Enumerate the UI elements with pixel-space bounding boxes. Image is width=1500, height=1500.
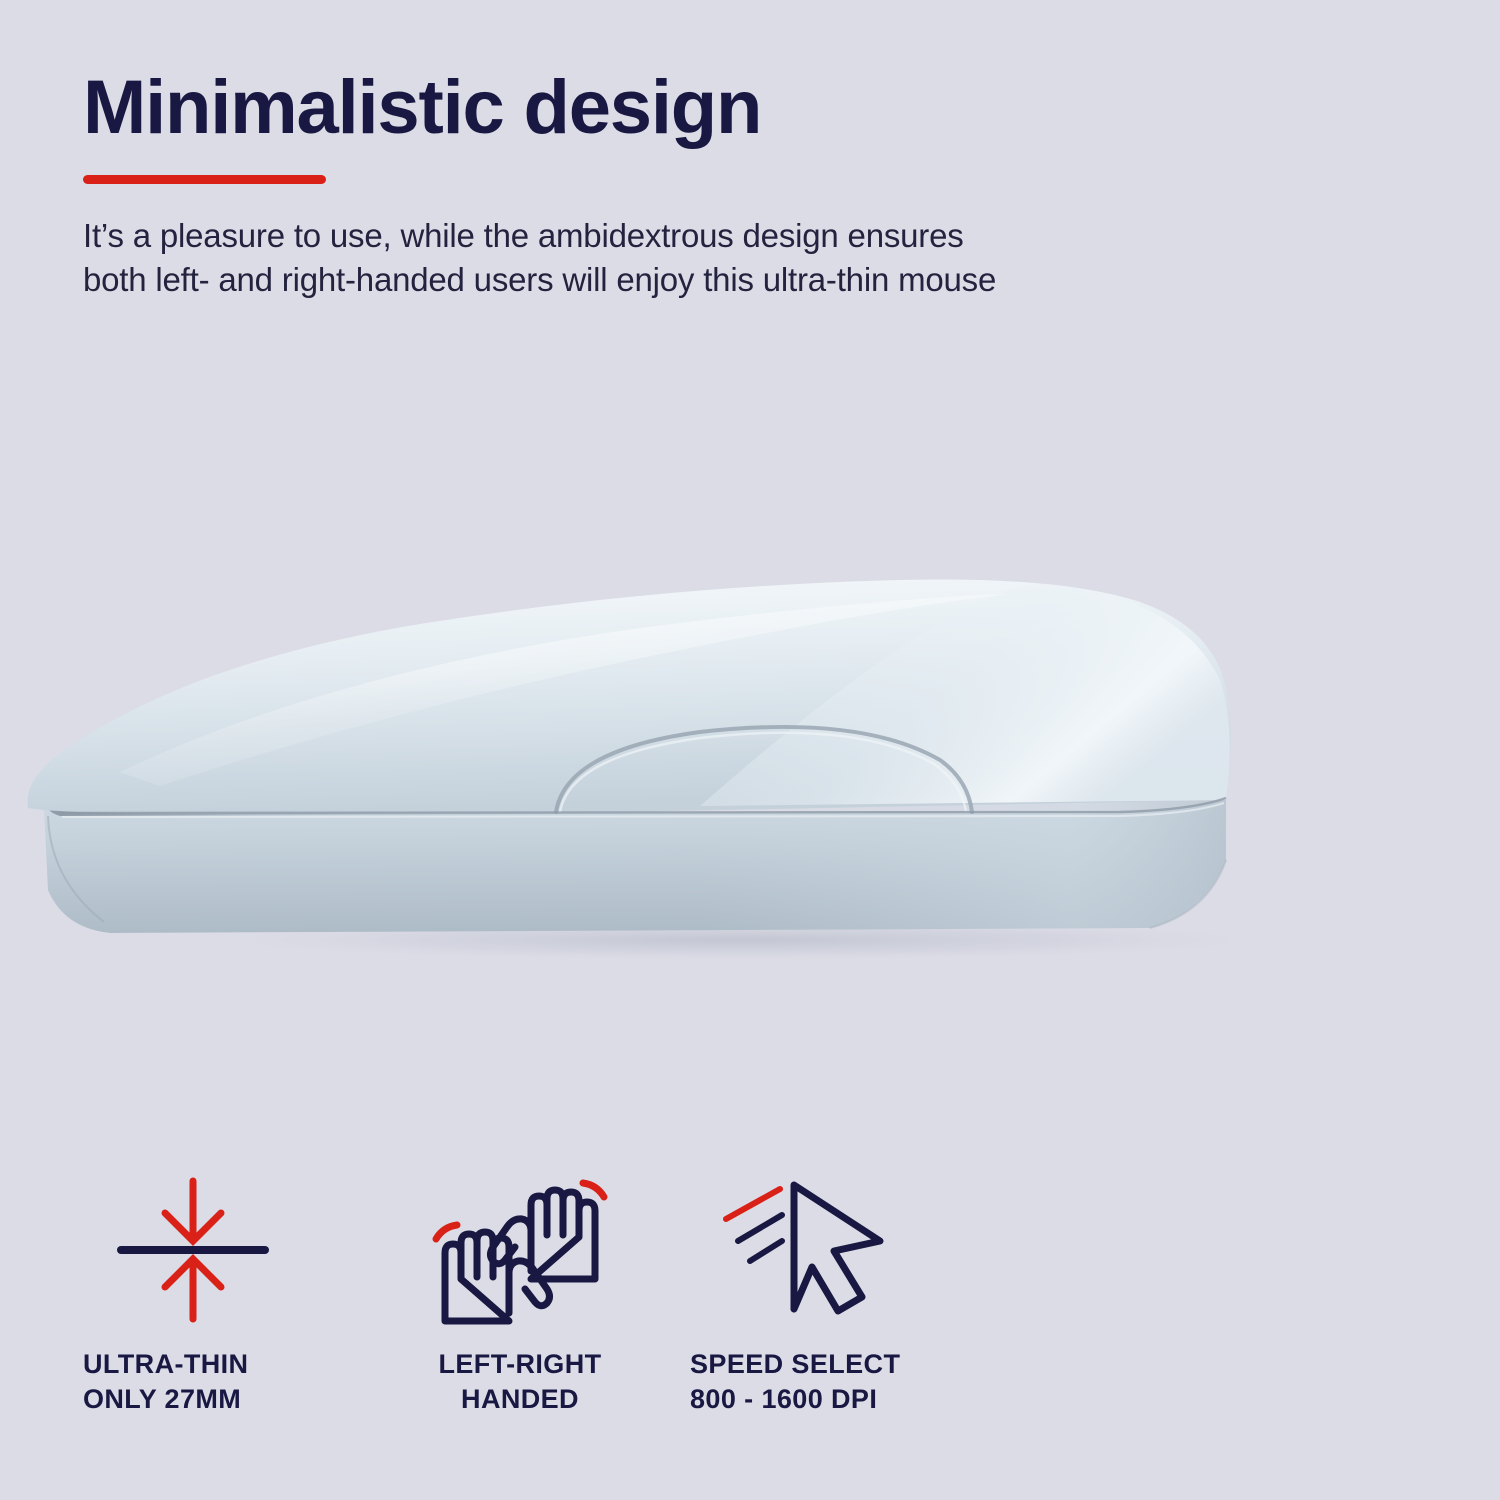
product-image [0,560,1500,1020]
feature-label-ambidextrous: LEFT-RIGHT HANDED [390,1347,650,1416]
mouse-illustration [0,560,1500,1020]
subtitle-line-2: both left- and right-handed users will e… [83,258,1413,302]
feature-row: ULTRA-THIN ONLY 27MM LEFT-RIGHT HANDE [0,1175,1500,1435]
feature-speed-select: SPEED SELECT 800 - 1600 DPI [690,1175,990,1416]
cursor-motion-line-1 [726,1189,780,1219]
thin-compress-arrows-icon [101,1175,286,1325]
header-block: Minimalistic design It’s a pleasure to u… [83,70,1443,302]
subtitle-line-1: It’s a pleasure to use, while the ambide… [83,214,1413,258]
feature-1-line-1: ULTRA-THIN [83,1347,353,1382]
left-hand-motion-arc [436,1225,457,1239]
right-hand-motion-arc [583,1183,604,1197]
fast-cursor-icon [712,1175,892,1325]
feature-3-line-1: SPEED SELECT [690,1347,990,1382]
feature-1-line-2: ONLY 27MM [83,1382,353,1417]
cursor-motion-line-3 [750,1241,782,1261]
two-hands-icon [425,1175,615,1325]
feature-2-line-1: LEFT-RIGHT [390,1347,650,1382]
cursor-motion-line-2 [738,1215,782,1241]
product-feature-banner: Minimalistic design It’s a pleasure to u… [0,0,1500,1500]
feature-label-speed-select: SPEED SELECT 800 - 1600 DPI [690,1347,990,1416]
page-title: Minimalistic design [83,70,1443,146]
feature-3-line-2: 800 - 1600 DPI [690,1382,990,1417]
feature-ambidextrous: LEFT-RIGHT HANDED [390,1175,650,1416]
subtitle: It’s a pleasure to use, while the ambide… [83,214,1413,302]
base-shell-highlight [700,798,1226,930]
feature-ultra-thin: ULTRA-THIN ONLY 27MM [83,1175,353,1416]
feature-2-line-2: HANDED [390,1382,650,1417]
feature-label-ultra-thin: ULTRA-THIN ONLY 27MM [83,1347,353,1416]
cursor-arrow [794,1185,880,1311]
title-accent-bar [83,175,326,184]
